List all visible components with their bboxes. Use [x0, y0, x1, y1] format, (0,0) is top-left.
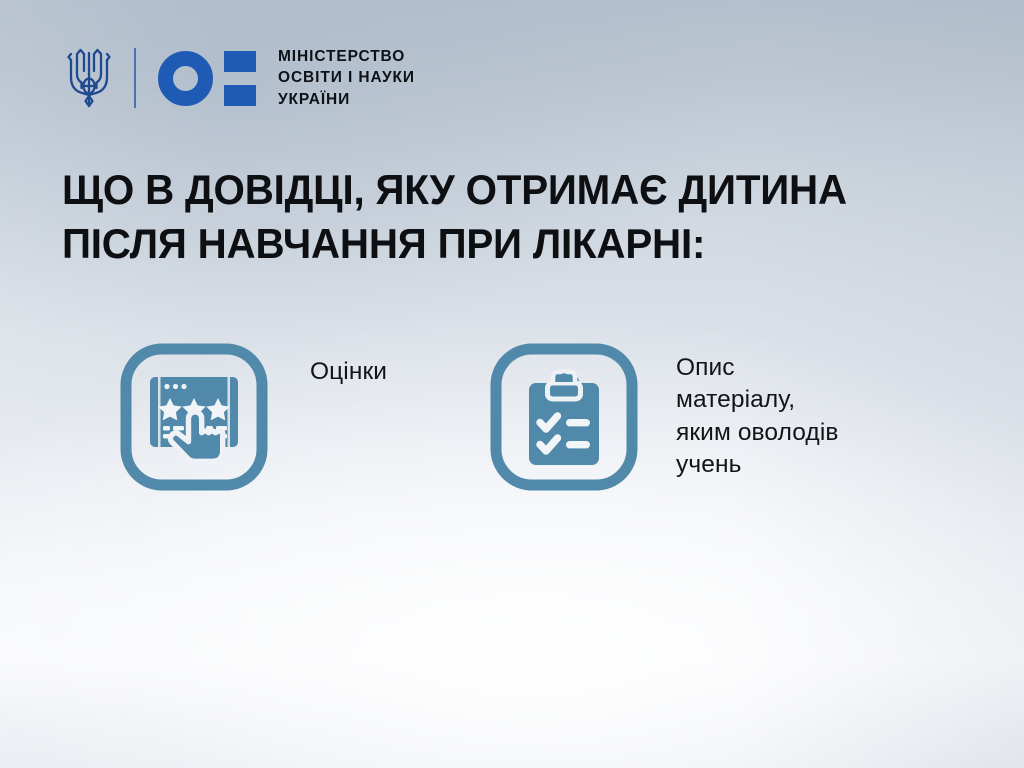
clipboard-checklist-icon: [490, 343, 638, 491]
list-item-label: Оцінки: [310, 356, 387, 388]
headline-line-2: ПІСЛЯ НАВЧАННЯ ПРИ ЛІКАРНІ:: [62, 217, 926, 271]
mark-bar-top: [224, 51, 256, 72]
mark-circle-o: [158, 51, 213, 106]
items-row: Оцінки: [0, 343, 1024, 503]
list-item: Опис матеріалу, яким оволодів учень: [490, 343, 839, 491]
label-line-1: Опис: [676, 352, 839, 384]
star-rating-tap-icon: [120, 343, 268, 491]
ministry-wordmark: МІНІСТЕРСТВО ОСВІТИ І НАУКИ УКРАЇНИ: [278, 46, 415, 110]
label-line-3: яким оволодів: [676, 417, 839, 449]
label-line-1: Оцінки: [310, 356, 387, 388]
page-title: ЩО В ДОВІДЦІ, ЯКУ ОТРИМАЄ ДИТИНА ПІСЛЯ Н…: [62, 163, 926, 271]
list-item: Оцінки: [120, 343, 387, 491]
ministry-logo-block: МІНІСТЕРСТВО ОСВІТИ І НАУКИ УКРАЇНИ: [66, 42, 415, 114]
ministry-line-3: УКРАЇНИ: [278, 89, 415, 110]
ministry-line-2: ОСВІТИ І НАУКИ: [278, 67, 415, 88]
slide-canvas: МІНІСТЕРСТВО ОСВІТИ І НАУКИ УКРАЇНИ ЩО В…: [0, 0, 1024, 768]
label-line-4: учень: [676, 449, 839, 481]
mon-o-equals-mark: [158, 48, 256, 108]
ukraine-trident-emblem: [66, 46, 112, 110]
mark-bar-bottom: [224, 85, 256, 106]
list-item-label: Опис матеріалу, яким оволодів учень: [676, 352, 839, 481]
ministry-line-1: МІНІСТЕРСТВО: [278, 46, 415, 67]
label-line-2: матеріалу,: [676, 384, 839, 416]
logo-divider: [134, 48, 136, 108]
mark-equals-bars: [224, 51, 256, 106]
headline-line-1: ЩО В ДОВІДЦІ, ЯКУ ОТРИМАЄ ДИТИНА: [62, 163, 926, 217]
